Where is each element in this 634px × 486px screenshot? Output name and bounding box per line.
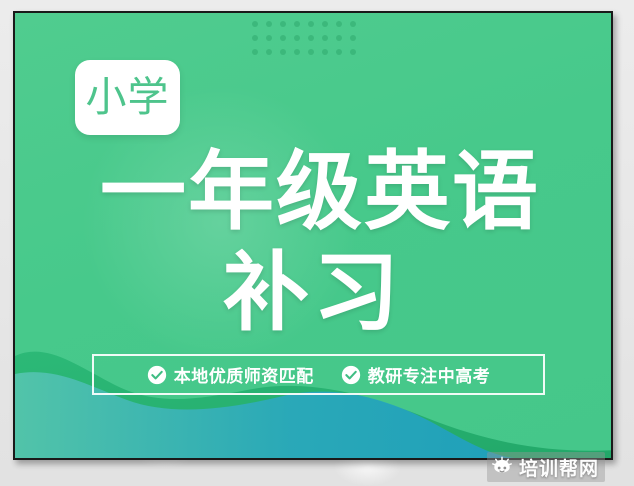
feature-item-exam-research: 教研专注中高考 xyxy=(341,362,491,387)
poster-headline-line-1: 一年级英语 xyxy=(15,149,611,235)
grid-dot xyxy=(294,49,300,55)
grid-dot xyxy=(294,35,300,41)
grid-dot xyxy=(336,35,342,41)
dot-grid-decoration xyxy=(252,21,364,63)
site-watermark: 培训帮网 xyxy=(487,452,605,482)
grid-dot xyxy=(280,35,286,41)
grid-dot xyxy=(266,35,272,41)
check-circle-icon xyxy=(147,365,167,385)
poster-headline-line-2: 补习 xyxy=(15,250,611,336)
grid-dot xyxy=(308,35,314,41)
grid-dot xyxy=(266,49,272,55)
grid-dot xyxy=(350,49,356,55)
promo-poster-card: 小学 一年级英语 补习 本地优质师资匹配 教研专注中高考 xyxy=(13,11,613,460)
grid-dot xyxy=(322,21,328,27)
grid-dot xyxy=(280,21,286,27)
level-badge: 小学 xyxy=(75,60,180,135)
grid-dot xyxy=(336,21,342,27)
grid-dot xyxy=(266,21,272,27)
check-circle-icon xyxy=(341,365,361,385)
grid-dot xyxy=(280,49,286,55)
page-backdrop: 小学 一年级英语 补习 本地优质师资匹配 教研专注中高考 xyxy=(0,0,634,486)
grid-dot xyxy=(252,35,258,41)
grid-dot xyxy=(350,35,356,41)
level-badge-label: 小学 xyxy=(86,77,170,118)
feature-label: 教研专注中高考 xyxy=(368,362,491,387)
grid-dot xyxy=(252,21,258,27)
grid-dot xyxy=(322,49,328,55)
grid-dot xyxy=(294,21,300,27)
grid-dot xyxy=(308,21,314,27)
feature-label: 本地优质师资匹配 xyxy=(174,362,314,387)
sun-face-icon xyxy=(491,456,513,478)
watermark-text: 培训帮网 xyxy=(519,454,599,481)
grid-dot xyxy=(350,21,356,27)
grid-dot xyxy=(322,35,328,41)
grid-dot xyxy=(252,49,258,55)
feature-item-local-teachers: 本地优质师资匹配 xyxy=(147,362,314,387)
grid-dot xyxy=(308,49,314,55)
grid-dot xyxy=(336,49,342,55)
feature-bar: 本地优质师资匹配 教研专注中高考 xyxy=(92,354,545,395)
